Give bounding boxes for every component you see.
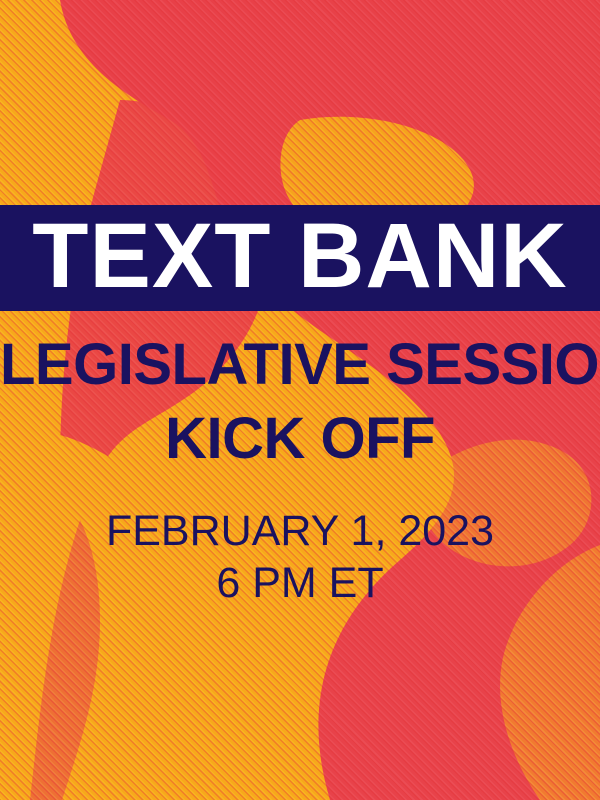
event-time: 6 PM ET bbox=[0, 557, 600, 609]
event-date: FEBRUARY 1, 2023 bbox=[0, 505, 600, 557]
event-details-block: FEBRUARY 1, 2023 6 PM ET bbox=[0, 505, 600, 609]
poster-canvas: TEXT BANK LEGISLATIVE SESSION KICK OFF F… bbox=[0, 0, 600, 800]
title-banner: TEXT BANK bbox=[0, 205, 600, 311]
banner-title-text: TEXT BANK bbox=[32, 210, 567, 302]
headline-block: LEGISLATIVE SESSION KICK OFF bbox=[0, 332, 600, 472]
headline-line-1: LEGISLATIVE SESSION bbox=[0, 332, 600, 398]
poster-content: TEXT BANK LEGISLATIVE SESSION KICK OFF F… bbox=[0, 0, 600, 800]
headline-line-2: KICK OFF bbox=[0, 406, 600, 472]
